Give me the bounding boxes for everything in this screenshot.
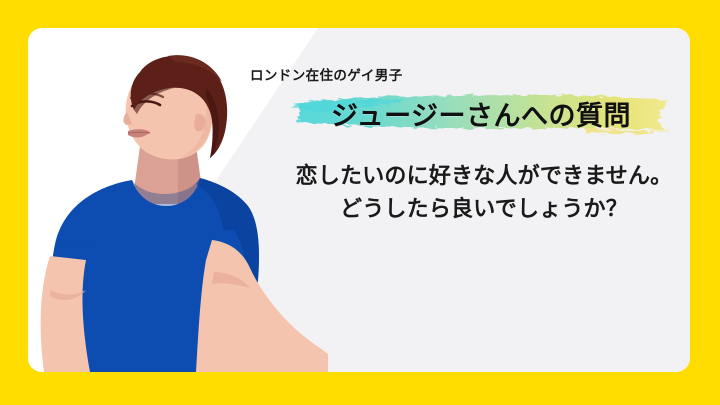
- title-block: ジュージーさんへの質問: [286, 90, 676, 136]
- slide-canvas: ロンドン在住のゲイ男子: [0, 0, 720, 405]
- question-line-1: 恋したいのに好きな人ができません。: [278, 160, 690, 193]
- title-text: ジュージーさんへの質問: [286, 90, 676, 136]
- right-arm: [196, 240, 328, 372]
- question-line-2: どうしたら良いでしょうか？: [278, 193, 690, 226]
- content-card: ロンドン在住のゲイ男子: [28, 28, 690, 372]
- left-arm: [41, 256, 90, 372]
- question-body: 恋したいのに好きな人ができません。 どうしたら良いでしょうか？: [278, 160, 690, 227]
- kicker-text: ロンドン在住のゲイ男子: [250, 70, 403, 84]
